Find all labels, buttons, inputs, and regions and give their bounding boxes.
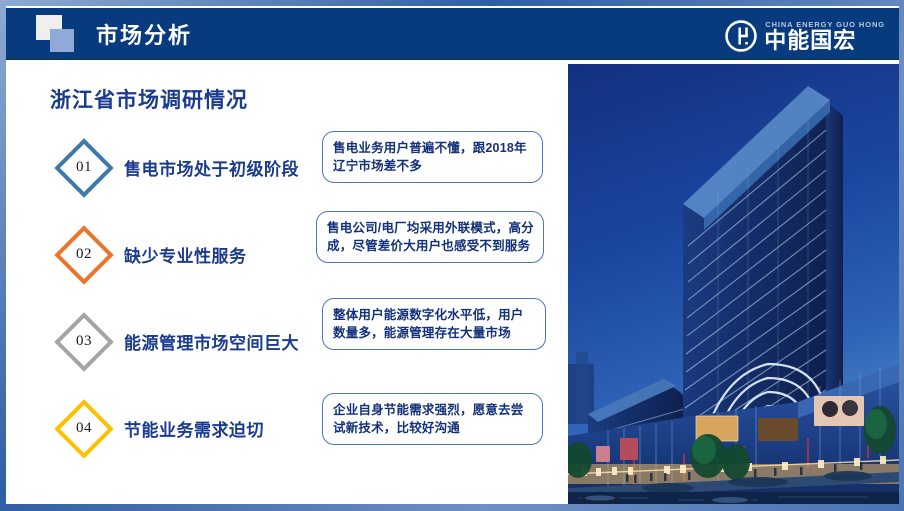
guohong-circle-mark-icon [724,19,758,53]
diamond-badge-02: 02 [52,223,116,287]
finding-note: 售电公司/电厂均采用外联模式，高分成，尽管差价大用户也感受不到服务 [316,211,544,263]
finding-label: 售电市场处于初级阶段 [124,155,299,180]
list-item[interactable]: 04 节能业务需求迫切 企业自身节能需求强烈，愿意去尝试新技术，比较好沟通 [6,385,568,472]
finding-note: 整体用户能源数字化水平低，用户数量多，能源管理存在大量市场 [322,298,546,350]
diamond-number: 01 [52,136,116,200]
finding-label: 缺少专业性服务 [124,242,247,267]
findings-list: 01 售电市场处于初级阶段 售电业务用户普遍不懂，跟2018年辽宁市场差不多 0… [6,124,568,472]
slide-header: 市场分析 CHINA ENERGY GUO HONG 中能国宏 [6,8,899,60]
finding-note: 售电业务用户普遍不懂，跟2018年辽宁市场差不多 [322,131,543,183]
diamond-number: 03 [52,310,116,374]
diamond-badge-01: 01 [52,136,116,200]
brand-text: CHINA ENERGY GUO HONG 中能国宏 [764,20,885,52]
slide-frame: 市场分析 CHINA ENERGY GUO HONG 中能国宏 浙江省市场调研情 [0,0,904,511]
list-item[interactable]: 02 缺少专业性服务 售电公司/电厂均采用外联模式，高分成，尽管差价大用户也感受… [6,211,568,298]
diamond-badge-04: 04 [52,397,116,461]
diamond-number: 04 [52,397,116,461]
slide-canvas: 市场分析 CHINA ENERGY GUO HONG 中能国宏 浙江省市场调研情 [6,6,899,504]
diamond-badge-03: 03 [52,310,116,374]
building-render-image [568,64,899,504]
list-item[interactable]: 03 能源管理市场空间巨大 整体用户能源数字化水平低，用户数量多，能源管理存在大… [6,298,568,385]
finding-label: 节能业务需求迫切 [124,416,264,441]
page-title: 市场分析 [96,18,192,50]
brand-logo: CHINA ENERGY GUO HONG 中能国宏 [724,16,885,56]
skyscraper-night-render [568,64,899,504]
list-item[interactable]: 01 售电市场处于初级阶段 售电业务用户普遍不懂，跟2018年辽宁市场差不多 [6,124,568,211]
main-content: 浙江省市场调研情况 01 售电市场处于初级阶段 售电业务用户普遍不懂，跟2018… [6,62,568,504]
finding-label: 能源管理市场空间巨大 [124,329,299,354]
brand-chinese-name: 中能国宏 [764,30,885,52]
square-blue-icon [50,29,74,52]
diamond-number: 02 [52,223,116,287]
section-title: 浙江省市场调研情况 [50,84,248,114]
finding-note: 企业自身节能需求强烈，愿意去尝试新技术，比较好沟通 [322,393,543,445]
header-decoration-squares [34,12,92,56]
